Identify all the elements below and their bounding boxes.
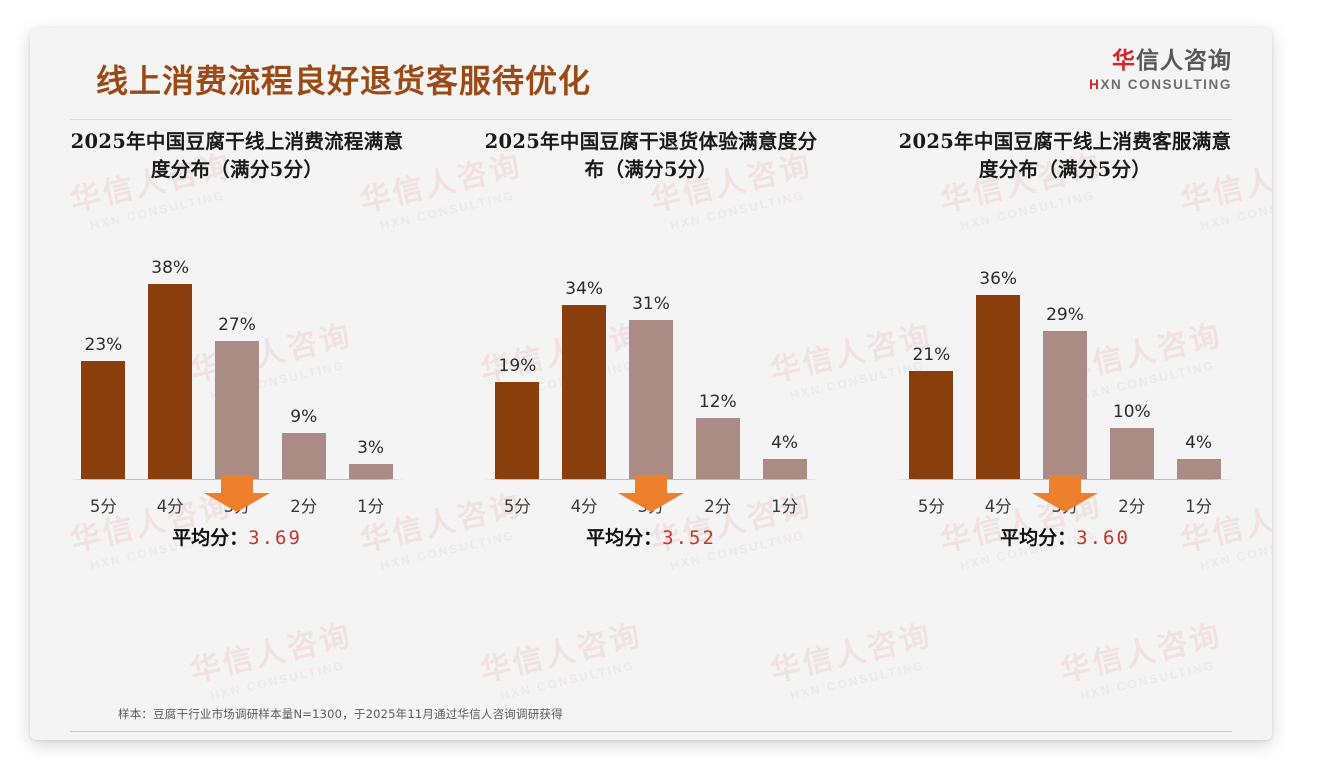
down-arrow-icon [614, 473, 688, 513]
plot-area: 19%34%31%12%4%5分4分3分2分1分 [484, 230, 818, 480]
bar-value-label: 12% [699, 392, 737, 412]
bar[interactable] [909, 371, 953, 479]
page-title: 线上消费流程良好退货客服待优化 [96, 56, 591, 102]
charts-row: 2025年中国豆腐干线上消费流程满意度分布（满分5分）23%38%27%9%3%… [30, 128, 1272, 668]
bar-value-label: 34% [565, 279, 603, 299]
logo-chinese: 华信人咨询 [1089, 48, 1232, 74]
bar-group: 19%34%31%12%4% [484, 230, 818, 479]
bar[interactable] [81, 361, 125, 479]
average-score-label: 平均分： [172, 527, 248, 549]
average-score-text: 平均分：3.69 [30, 523, 444, 550]
bar[interactable] [148, 284, 192, 479]
chart-title: 2025年中国豆腐干退货体验满意度分布（满分5分） [458, 128, 844, 186]
bar-item[interactable]: 27% [204, 230, 271, 479]
bar-group: 21%36%29%10%4% [898, 230, 1232, 479]
bar-item[interactable]: 23% [70, 230, 137, 479]
sample-footnote: 样本：豆腐干行业市场调研样本量N=1300，于2025年11月通过华信人咨询调研… [118, 706, 563, 722]
bar-item[interactable]: 10% [1098, 230, 1165, 479]
slide-card: 华信人咨询HXN CONSULTING华信人咨询HXN CONSULTING华信… [30, 28, 1272, 740]
bar-value-label: 36% [979, 269, 1017, 289]
bar-value-label: 29% [1046, 305, 1084, 325]
bar-item[interactable]: 19% [484, 230, 551, 479]
bar-item[interactable]: 36% [965, 230, 1032, 479]
bar-item[interactable]: 34% [551, 230, 618, 479]
bar-item[interactable]: 12% [684, 230, 751, 479]
bar[interactable] [495, 382, 539, 479]
chart-panel-2: 2025年中国豆腐干退货体验满意度分布（满分5分）19%34%31%12%4%5… [444, 128, 858, 668]
bar-item[interactable]: 3% [337, 230, 404, 479]
average-score-block: 平均分：3.69 [30, 473, 444, 550]
average-score-text: 平均分：3.60 [858, 523, 1272, 550]
bar-item[interactable]: 9% [270, 230, 337, 479]
bar[interactable] [629, 320, 673, 479]
bar-item[interactable]: 31% [618, 230, 685, 479]
brand-logo: 华信人咨询 HXN CONSULTING [1089, 48, 1232, 92]
average-score-label: 平均分： [1000, 527, 1076, 549]
average-score-value: 3.60 [1076, 527, 1130, 549]
bar[interactable] [215, 341, 259, 479]
logo-en-rest: XN CONSULTING [1100, 77, 1232, 92]
plot-area: 23%38%27%9%3%5分4分3分2分1分 [70, 230, 404, 480]
bar-value-label: 4% [771, 433, 798, 453]
bar-value-label: 21% [913, 345, 951, 365]
bar[interactable] [976, 295, 1020, 479]
bar-value-label: 19% [499, 356, 537, 376]
bar[interactable] [1043, 331, 1087, 479]
bar-item[interactable]: 29% [1032, 230, 1099, 479]
plot-area: 21%36%29%10%4%5分4分3分2分1分 [898, 230, 1232, 480]
bar-value-label: 3% [357, 438, 384, 458]
bar-item[interactable]: 38% [137, 230, 204, 479]
bar[interactable] [1110, 428, 1154, 479]
bar-value-label: 10% [1113, 402, 1151, 422]
logo-chinese-rest: 信人咨询 [1136, 48, 1232, 74]
bar[interactable] [562, 305, 606, 479]
average-score-block: 平均分：3.60 [858, 473, 1272, 550]
average-score-value: 3.69 [248, 527, 302, 549]
bar-value-label: 27% [218, 315, 256, 335]
average-score-block: 平均分：3.52 [444, 473, 858, 550]
chart-title: 2025年中国豆腐干线上消费流程满意度分布（满分5分） [44, 128, 430, 186]
down-arrow-icon [200, 473, 274, 513]
logo-english: HXN CONSULTING [1089, 77, 1232, 92]
bar-item[interactable]: 21% [898, 230, 965, 479]
slide-footer: ©2026.1 HXR华信人咨询 www.hxrcon.com [30, 734, 1272, 740]
chart-title: 2025年中国豆腐干线上消费客服满意度分布（满分5分） [872, 128, 1258, 186]
bar-value-label: 4% [1185, 433, 1212, 453]
bar-value-label: 31% [632, 294, 670, 314]
average-score-text: 平均分：3.52 [444, 523, 858, 550]
average-score-value: 3.52 [662, 527, 716, 549]
bar-group: 23%38%27%9%3% [70, 230, 404, 479]
down-arrow-icon [1028, 473, 1102, 513]
header-divider [70, 119, 1232, 120]
bar[interactable] [696, 418, 740, 479]
chart-panel-1: 2025年中国豆腐干线上消费流程满意度分布（满分5分）23%38%27%9%3%… [30, 128, 444, 668]
logo-accent-char: 华 [1112, 48, 1136, 74]
bar-item[interactable]: 4% [1165, 230, 1232, 479]
bar-value-label: 9% [290, 407, 317, 427]
slide-header: 线上消费流程良好退货客服待优化 华信人咨询 HXN CONSULTING [30, 28, 1272, 120]
chart-panel-3: 2025年中国豆腐干线上消费客服满意度分布（满分5分）21%36%29%10%4… [858, 128, 1272, 668]
logo-en-accent: H [1089, 77, 1100, 92]
average-score-label: 平均分： [586, 527, 662, 549]
bar-item[interactable]: 4% [751, 230, 818, 479]
bar-value-label: 38% [151, 258, 189, 278]
bar-value-label: 23% [85, 335, 123, 355]
footer-divider [70, 731, 1232, 732]
